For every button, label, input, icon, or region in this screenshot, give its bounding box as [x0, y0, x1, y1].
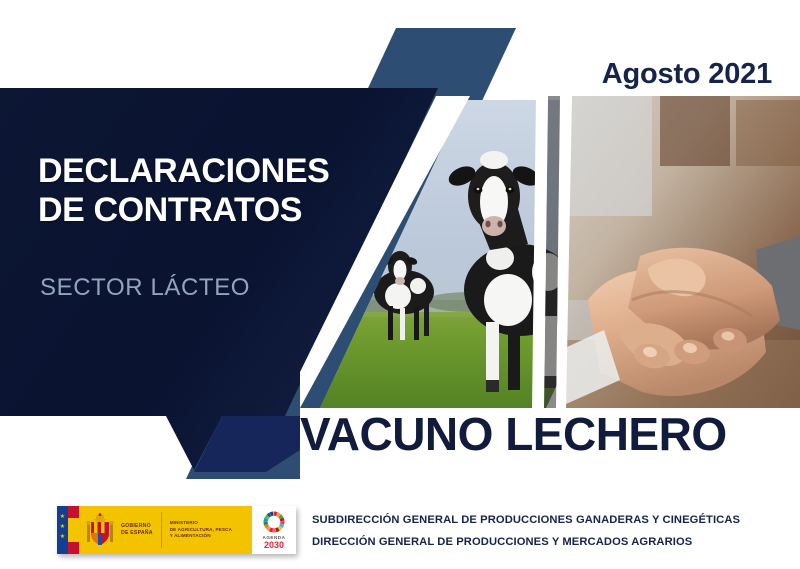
footer-organisation: SUBDIRECCIÓN GENERAL DE PRODUCCIONES GAN…	[312, 510, 740, 554]
logo-yellow-field: GOBIERNO DE ESPAÑA MINISTERIO DE AGRICUL…	[79, 506, 252, 554]
coat-of-arms-icon	[85, 513, 115, 547]
logo-gov-line1: GOBIERNO	[121, 523, 153, 530]
title-line-2: DE CONTRATOS	[38, 191, 329, 230]
page-title: DECLARACIONES DE CONTRATOS	[38, 152, 329, 231]
sdg-color-wheel-icon	[262, 510, 286, 534]
footer-org-line1: SUBDIRECCIÓN GENERAL DE PRODUCCIONES GAN…	[312, 510, 740, 532]
agenda-year: 2030	[264, 541, 284, 550]
agenda-2030-logo: AGENDA 2030	[252, 506, 296, 554]
logo-ministry-text: MINISTERIO DE AGRICULTURA, PESCA Y ALIME…	[170, 520, 232, 540]
product-title: VACUNO LECHERO	[300, 407, 727, 461]
logo-divider	[161, 512, 162, 548]
government-logo: ★★★ GOBIERNO DE ESPAÑA	[57, 506, 296, 554]
document-cover: Agosto 2021 DECLARACIONES DE CONTRATOS S…	[0, 0, 800, 569]
logo-min-line3: Y ALIMENTACIÓN	[170, 533, 232, 540]
footer-org-line2: DIRECCIÓN GENERAL DE PRODUCCIONES Y MERC…	[312, 532, 740, 554]
handshake-photo	[550, 90, 800, 420]
flag-bar-icon: ★★★	[57, 506, 79, 554]
logo-gov-line2: DE ESPAÑA	[121, 530, 153, 537]
title-line-1: DECLARACIONES	[38, 152, 329, 190]
logo-min-line1: MINISTERIO	[170, 520, 232, 527]
logo-government-text: GOBIERNO DE ESPAÑA	[121, 523, 153, 537]
page-subtitle: SECTOR LÁCTEO	[40, 274, 250, 302]
cover-date: Agosto 2021	[602, 58, 772, 91]
